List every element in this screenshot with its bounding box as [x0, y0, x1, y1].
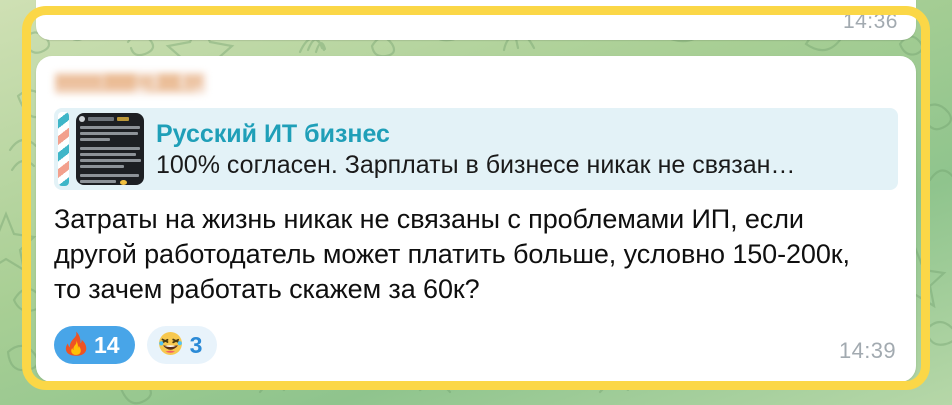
reaction-rofl-count: 3: [190, 334, 203, 357]
reply-preview-text: 100% согласен. Зарплаты в бизнесе никак …: [156, 151, 888, 180]
message-line-3: то зачем работать скажем за 60к?: [54, 272, 910, 307]
reaction-fire[interactable]: 14: [54, 326, 135, 364]
reply-text-area: Русский ИТ бизнес 100% согласен. Зарплат…: [144, 108, 898, 190]
previous-message-timestamp: 14:36: [843, 10, 898, 34]
fire-emoji: [65, 331, 87, 360]
message-line-2: другой работодатель может платить больше…: [54, 237, 910, 272]
reply-channel-title: Русский ИТ бизнес: [156, 120, 888, 148]
chat-wallpaper: 14:36: [0, 0, 952, 405]
message-line-1: Затраты на жизнь никак не связаны с проб…: [54, 202, 910, 237]
reaction-rofl[interactable]: 3: [147, 326, 218, 364]
previous-message-bubble[interactable]: 14:36: [36, 0, 916, 40]
reactions-bar: 14 3: [54, 326, 217, 364]
sender-name-redacted: [54, 72, 206, 94]
reply-thumbnail-image[interactable]: [76, 113, 144, 185]
reaction-fire-count: 14: [94, 334, 120, 357]
message-body-text: Затраты на жизнь никак не связаны с проб…: [54, 202, 910, 307]
message-timestamp: 14:39: [839, 338, 896, 364]
reply-stripe-bar: [58, 112, 69, 186]
reply-quote-block[interactable]: Русский ИТ бизнес 100% согласен. Зарплат…: [54, 108, 898, 190]
rofl-emoji: [158, 331, 183, 360]
message-bubble[interactable]: Русский ИТ бизнес 100% согласен. Зарплат…: [36, 56, 916, 382]
